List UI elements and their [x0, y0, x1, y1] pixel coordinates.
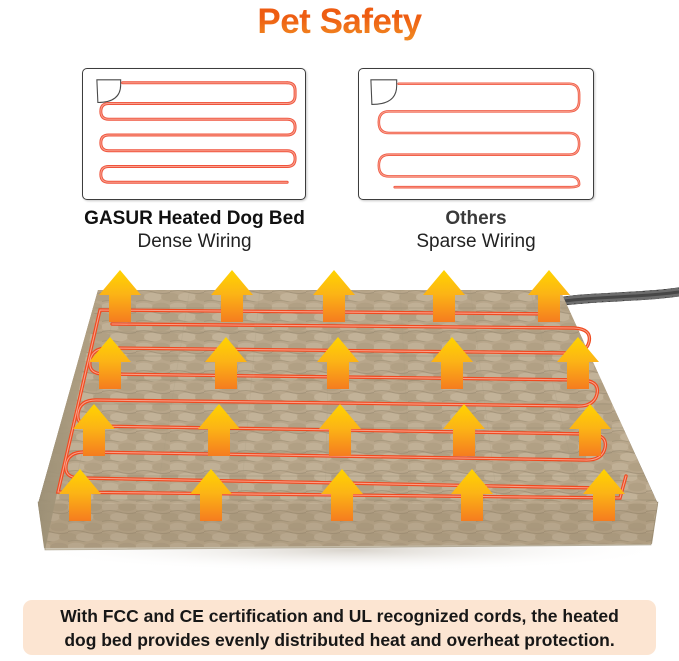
connector-fold-icon: [371, 80, 397, 105]
left-diagram-subtitle: Dense Wiring: [42, 230, 347, 253]
dense-wiring-diagram: [82, 68, 306, 200]
page-title: Pet Safety: [0, 2, 679, 42]
sparse-wiring-diagram: [358, 68, 594, 200]
dense-wiring-svg: [83, 69, 305, 199]
comparison-labels: GASUR Heated Dog Bed Dense Wiring Others…: [0, 208, 679, 264]
wiring-comparison-row: [0, 68, 679, 202]
caption-line-1: With FCC and CE certification and UL rec…: [60, 604, 619, 628]
caption-line-2: dog bed provides evenly distributed heat…: [64, 628, 614, 652]
right-diagram-subtitle: Sparse Wiring: [358, 230, 594, 253]
left-diagram-title: GASUR Heated Dog Bed: [42, 208, 347, 230]
label-group-right: Others Sparse Wiring: [358, 208, 594, 253]
label-group-left: GASUR Heated Dog Bed Dense Wiring: [42, 208, 347, 253]
heated-pet-bed-image: [0, 262, 679, 582]
certification-caption: With FCC and CE certification and UL rec…: [23, 600, 656, 655]
infographic-root: Pet Safety: [0, 0, 679, 661]
right-diagram-title: Others: [358, 208, 594, 230]
sparse-wiring-svg: [359, 69, 593, 199]
connector-fold-icon: [97, 80, 121, 103]
pet-bed-svg: [0, 262, 679, 582]
